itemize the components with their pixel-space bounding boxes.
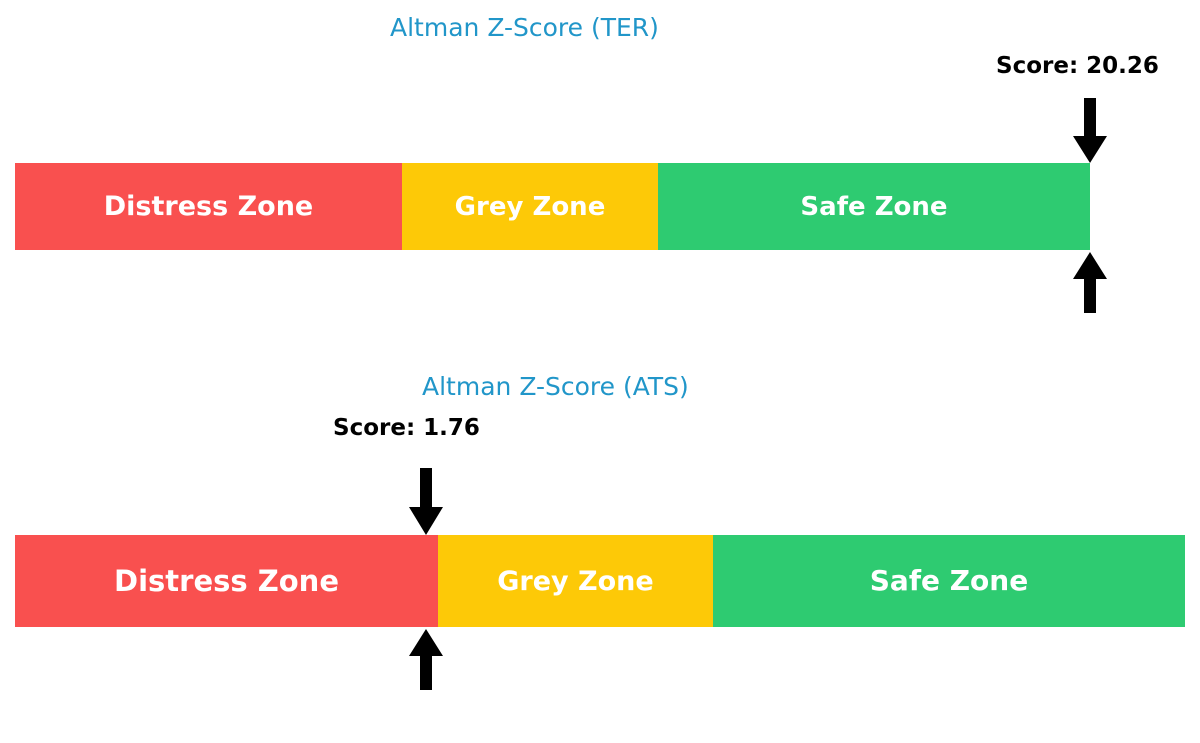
zone-grey-ats: Grey Zone — [438, 535, 713, 627]
zone-grey-ter: Grey Zone — [402, 163, 658, 250]
zone-safe-ter: Safe Zone — [658, 163, 1090, 250]
score-marker-down-arrow-ter — [1072, 98, 1108, 164]
score-label-ter: Score: 20.26 — [996, 53, 1159, 79]
chart-title-ter: Altman Z-Score (TER) — [390, 13, 659, 42]
altman-zscore-gauges: Altman Z-Score (TER) Score: 20.26 Distre… — [0, 0, 1200, 743]
zone-distress-ter: Distress Zone — [15, 163, 402, 250]
zone-distress-ats: Distress Zone — [15, 535, 438, 627]
score-marker-up-arrow-ats — [408, 629, 444, 691]
score-label-ats: Score: 1.76 — [333, 415, 480, 441]
zone-label-safe-ats: Safe Zone — [870, 567, 1028, 595]
chart-title-ats: Altman Z-Score (ATS) — [422, 372, 689, 401]
score-marker-up-arrow-ter — [1072, 252, 1108, 314]
score-marker-down-arrow-ats — [408, 468, 444, 536]
zone-label-safe-ter: Safe Zone — [800, 194, 947, 220]
zone-label-distress-ats: Distress Zone — [114, 567, 339, 596]
zone-label-grey-ter: Grey Zone — [455, 194, 606, 220]
zone-label-distress-ter: Distress Zone — [104, 193, 313, 220]
zone-label-grey-ats: Grey Zone — [497, 568, 653, 595]
zone-bar-ter: Distress Zone Grey Zone Safe Zone — [15, 163, 1090, 250]
zone-safe-ats: Safe Zone — [713, 535, 1185, 627]
zone-bar-ats: Distress Zone Grey Zone Safe Zone — [15, 535, 1185, 627]
